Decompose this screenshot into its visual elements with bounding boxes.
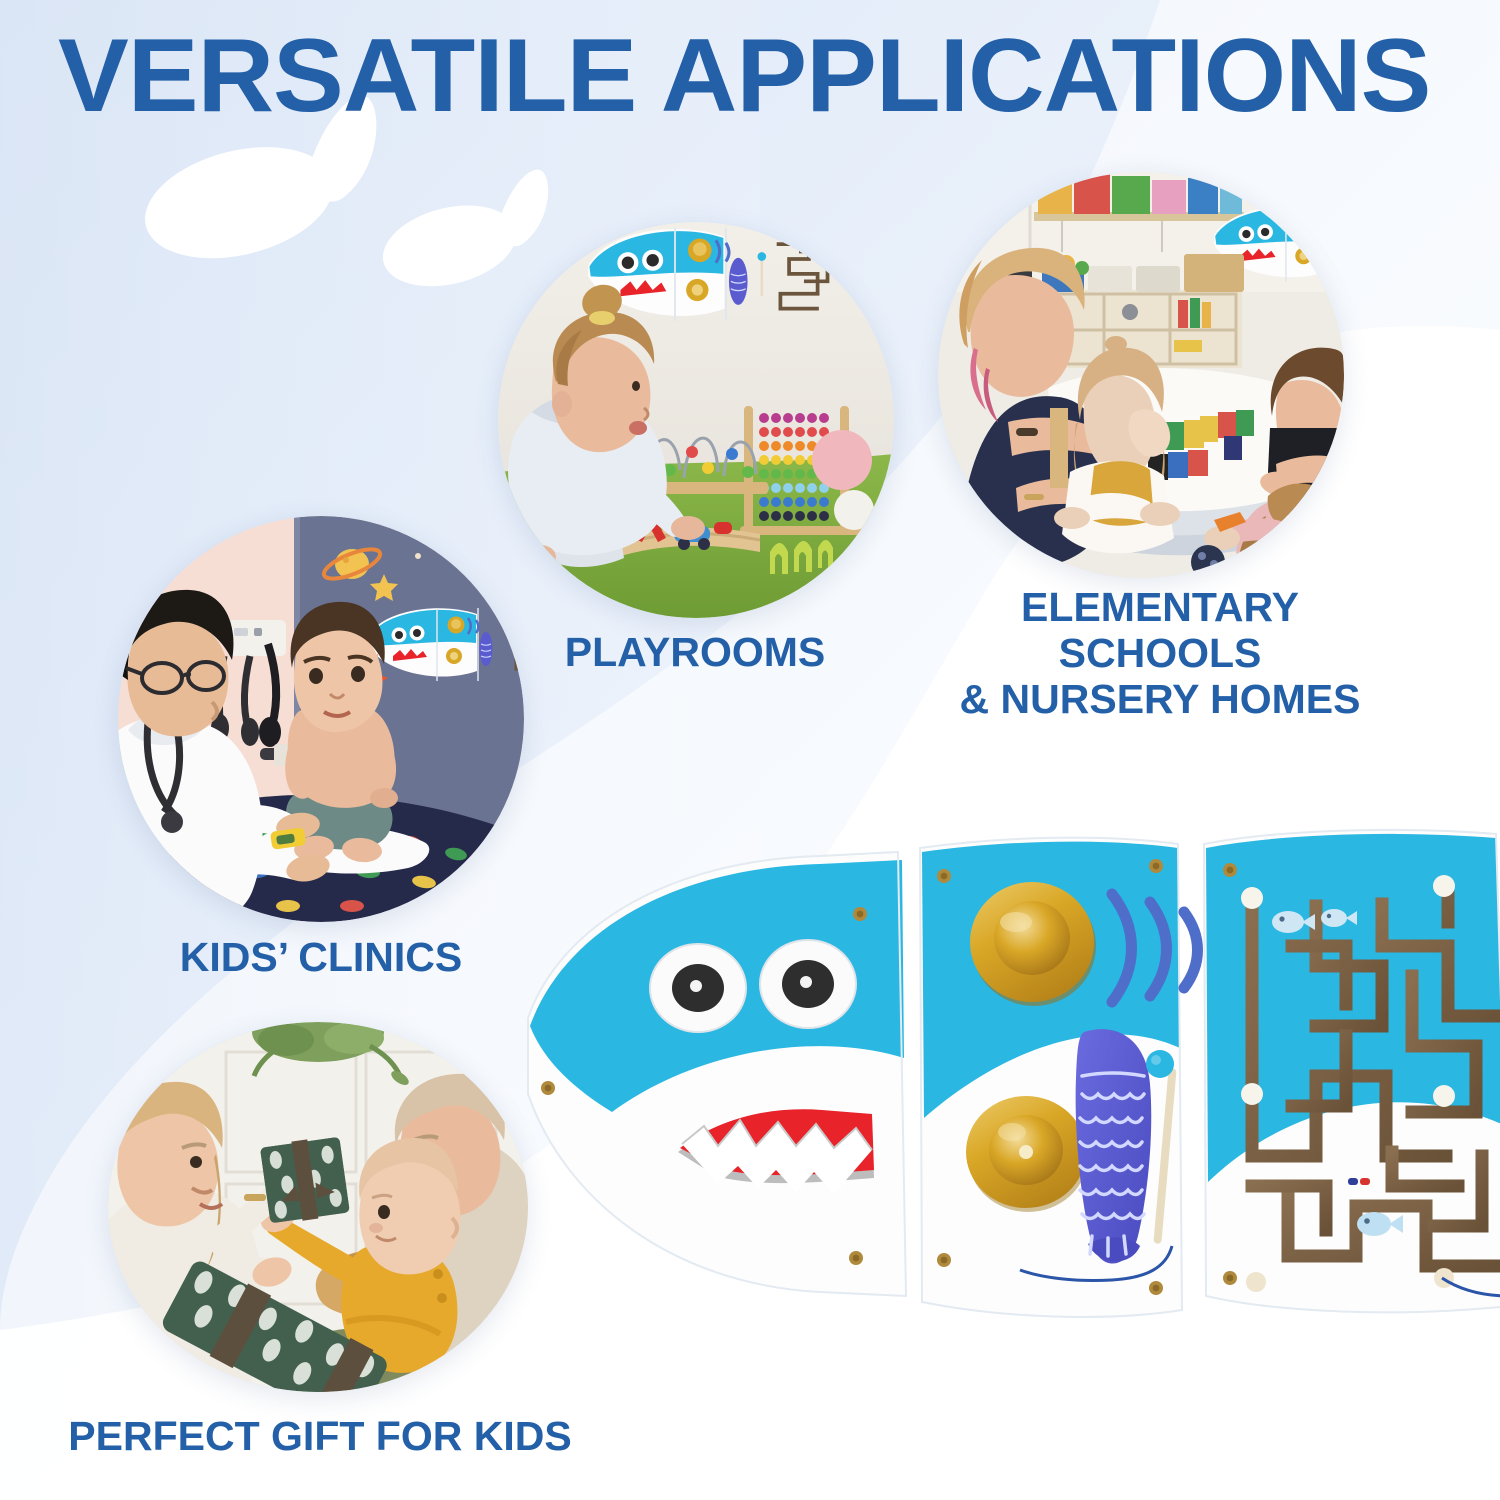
infographic-root: VERSATILE APPLICATIONS bbox=[0, 0, 1500, 1500]
photo-playrooms bbox=[498, 222, 894, 618]
caption-elementary-schools: ELEMENTARY SCHOOLS & NURSERY HOMES bbox=[925, 585, 1395, 723]
caption-kids-clinics: KIDS’ CLINICS bbox=[96, 935, 546, 981]
photo-elementary-schools bbox=[938, 172, 1344, 578]
gift-box bbox=[260, 1135, 350, 1225]
shark-eye-left bbox=[650, 944, 746, 1032]
photo-kids-clinics bbox=[118, 516, 524, 922]
photo-perfect-gift bbox=[108, 1022, 528, 1392]
shark-eye-right bbox=[760, 940, 856, 1028]
shark-maze-panel bbox=[1204, 830, 1500, 1312]
caption-playrooms: PLAYROOMS bbox=[470, 630, 920, 676]
caption-perfect-gift: PERFECT GIFT FOR KIDS bbox=[60, 1414, 580, 1460]
page-title: VERSATILE APPLICATIONS bbox=[58, 24, 1500, 128]
shark-head-panel bbox=[528, 852, 906, 1296]
shark-middle-panel bbox=[920, 838, 1198, 1317]
shark-wall-activity-board bbox=[520, 826, 1500, 1326]
